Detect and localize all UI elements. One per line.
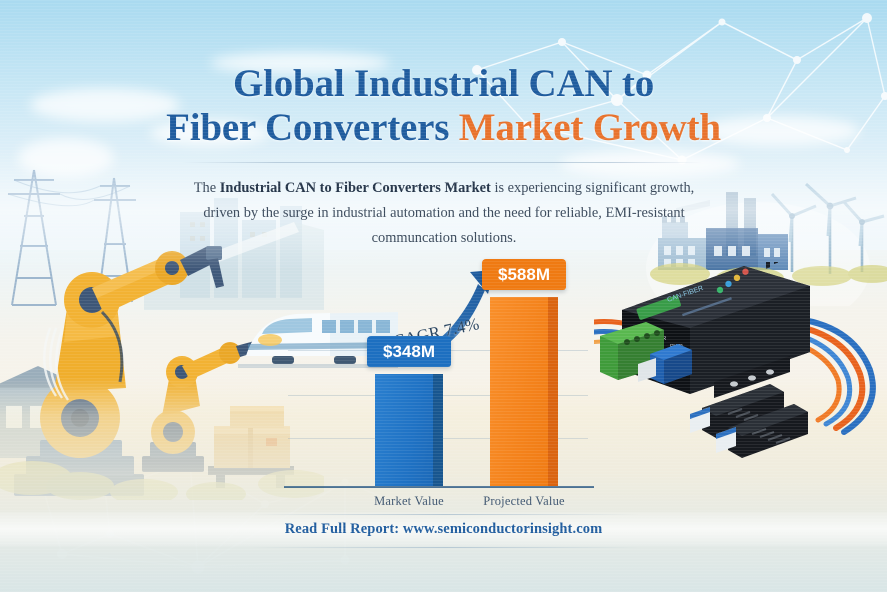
title-line-2-accent: Market Growth (459, 106, 721, 149)
bar-market-value: $348M (375, 374, 443, 486)
bar-projected-value: $588M (490, 297, 558, 486)
bar-edge (548, 297, 558, 486)
subtitle-prefix: The (194, 180, 220, 196)
subtitle-bold: Industrial CAN to Fiber Converters Marke… (220, 180, 491, 196)
market-growth-bar-chart: CAGR 7.4% $348M $588M Market Value Proje… (284, 270, 594, 520)
read-full-report-link[interactable]: Read Full Report: www.semiconductorinsig… (0, 521, 887, 538)
bar-value-label-market: $348M (367, 336, 451, 367)
infographic-canvas: CAN-FIBER CAN FIBER PWR (0, 0, 887, 592)
title-divider (182, 162, 702, 163)
chart-baseline-axis (284, 486, 594, 488)
can-to-fiber-converter-device-illustration: CAN-FIBER CAN FIBER PWR (594, 262, 887, 462)
title-line-2-main: Fiber Converters (166, 106, 459, 149)
chart-category-label-projected: Projected Value (459, 494, 589, 509)
footer-divider-top (250, 514, 640, 515)
title-line-2: Fiber Converters Market Growth (0, 106, 887, 150)
footer-divider-bottom (250, 547, 640, 548)
bar-value-label-projected: $588M (482, 259, 566, 290)
page-title: Global Industrial CAN to Fiber Converter… (0, 62, 887, 150)
bar-edge (433, 374, 443, 486)
title-line-1: Global Industrial CAN to (0, 62, 887, 106)
subtitle-text: The Industrial CAN to Fiber Converters M… (193, 176, 695, 251)
chart-category-label-market: Market Value (344, 494, 474, 509)
